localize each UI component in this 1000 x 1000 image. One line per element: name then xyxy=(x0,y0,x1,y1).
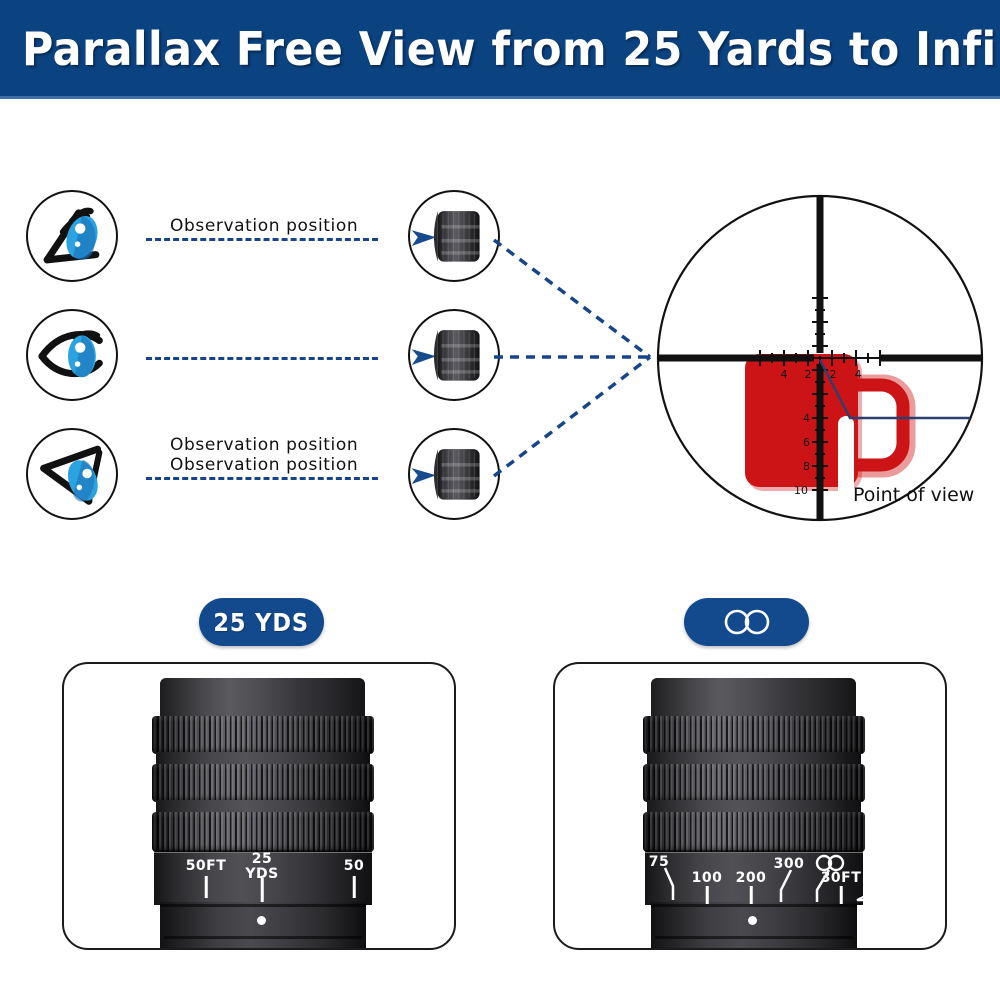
lens-knurl-ring-3 xyxy=(152,812,374,852)
lens-knurl-ring-2 xyxy=(152,764,374,802)
lens-seam-3 xyxy=(164,936,362,939)
lens-mark-tick xyxy=(750,886,753,904)
badge-25-yds[interactable]: 25 YDS xyxy=(199,598,324,646)
lens-mark-label: 200 xyxy=(736,870,767,886)
parallax-diagram: Observation position xyxy=(0,98,1000,568)
svg-text:8: 8 xyxy=(803,460,810,473)
lens-index-dot xyxy=(748,916,757,925)
lens-panel-25yds: 50FT 25YDS 50 xyxy=(62,662,456,950)
page-title: Parallax Free View from 25 Yards to Infi… xyxy=(22,22,1000,76)
svg-text:6: 6 xyxy=(803,436,810,449)
lens-mark-label: 100 xyxy=(692,870,723,886)
lens-knurl-ring-3 xyxy=(643,812,865,852)
lens-knurl-ring-2 xyxy=(643,764,865,802)
lens-mark-tick xyxy=(205,876,208,898)
lens-mark-label: 50 xyxy=(344,858,364,874)
infinity-icon xyxy=(719,608,775,636)
lens-knurl-ring-1 xyxy=(643,716,865,754)
badge-25-yds-label: 25 YDS xyxy=(214,608,310,637)
lens-mark-label: 30FT xyxy=(821,870,862,886)
lens-mark-tick xyxy=(261,878,264,902)
badge-infinity[interactable] xyxy=(684,598,809,646)
lens-mark-tick xyxy=(353,876,356,898)
index-pointer-icon xyxy=(855,886,889,906)
point-of-view-label: Point of view xyxy=(853,484,974,506)
lens-assembly-infinity: 75 100 200 300 30F xyxy=(555,664,945,948)
lens-panel-infinity: 75 100 200 300 30F xyxy=(553,662,947,950)
svg-text:10: 10 xyxy=(794,484,808,497)
svg-text:2: 2 xyxy=(805,368,812,381)
lens-mark-label: 50FT xyxy=(186,858,227,874)
lens-body-lower xyxy=(651,902,857,948)
lens-mark-tick xyxy=(651,868,691,902)
page-root: Parallax Free View from 25 Yards to Infi… xyxy=(0,0,1000,1000)
lens-index-dot xyxy=(257,916,266,925)
lens-assembly-25yds: 50FT 25YDS 50 xyxy=(64,664,454,948)
lens-mark-tick xyxy=(840,886,843,904)
svg-text:4: 4 xyxy=(781,368,788,381)
lens-knurl-ring-1 xyxy=(152,716,374,754)
header-banner: Parallax Free View from 25 Yards to Infi… xyxy=(0,0,1000,98)
lens-seam-2 xyxy=(160,904,366,907)
lens-seam-3 xyxy=(655,936,853,939)
lens-seam-2 xyxy=(651,904,857,907)
svg-text:4: 4 xyxy=(855,368,862,381)
scope-reticle-view: 42 24 46 810 xyxy=(0,98,1000,568)
lens-body-lower xyxy=(160,902,366,948)
lens-mark-tick xyxy=(706,886,709,904)
svg-text:4: 4 xyxy=(803,412,810,425)
